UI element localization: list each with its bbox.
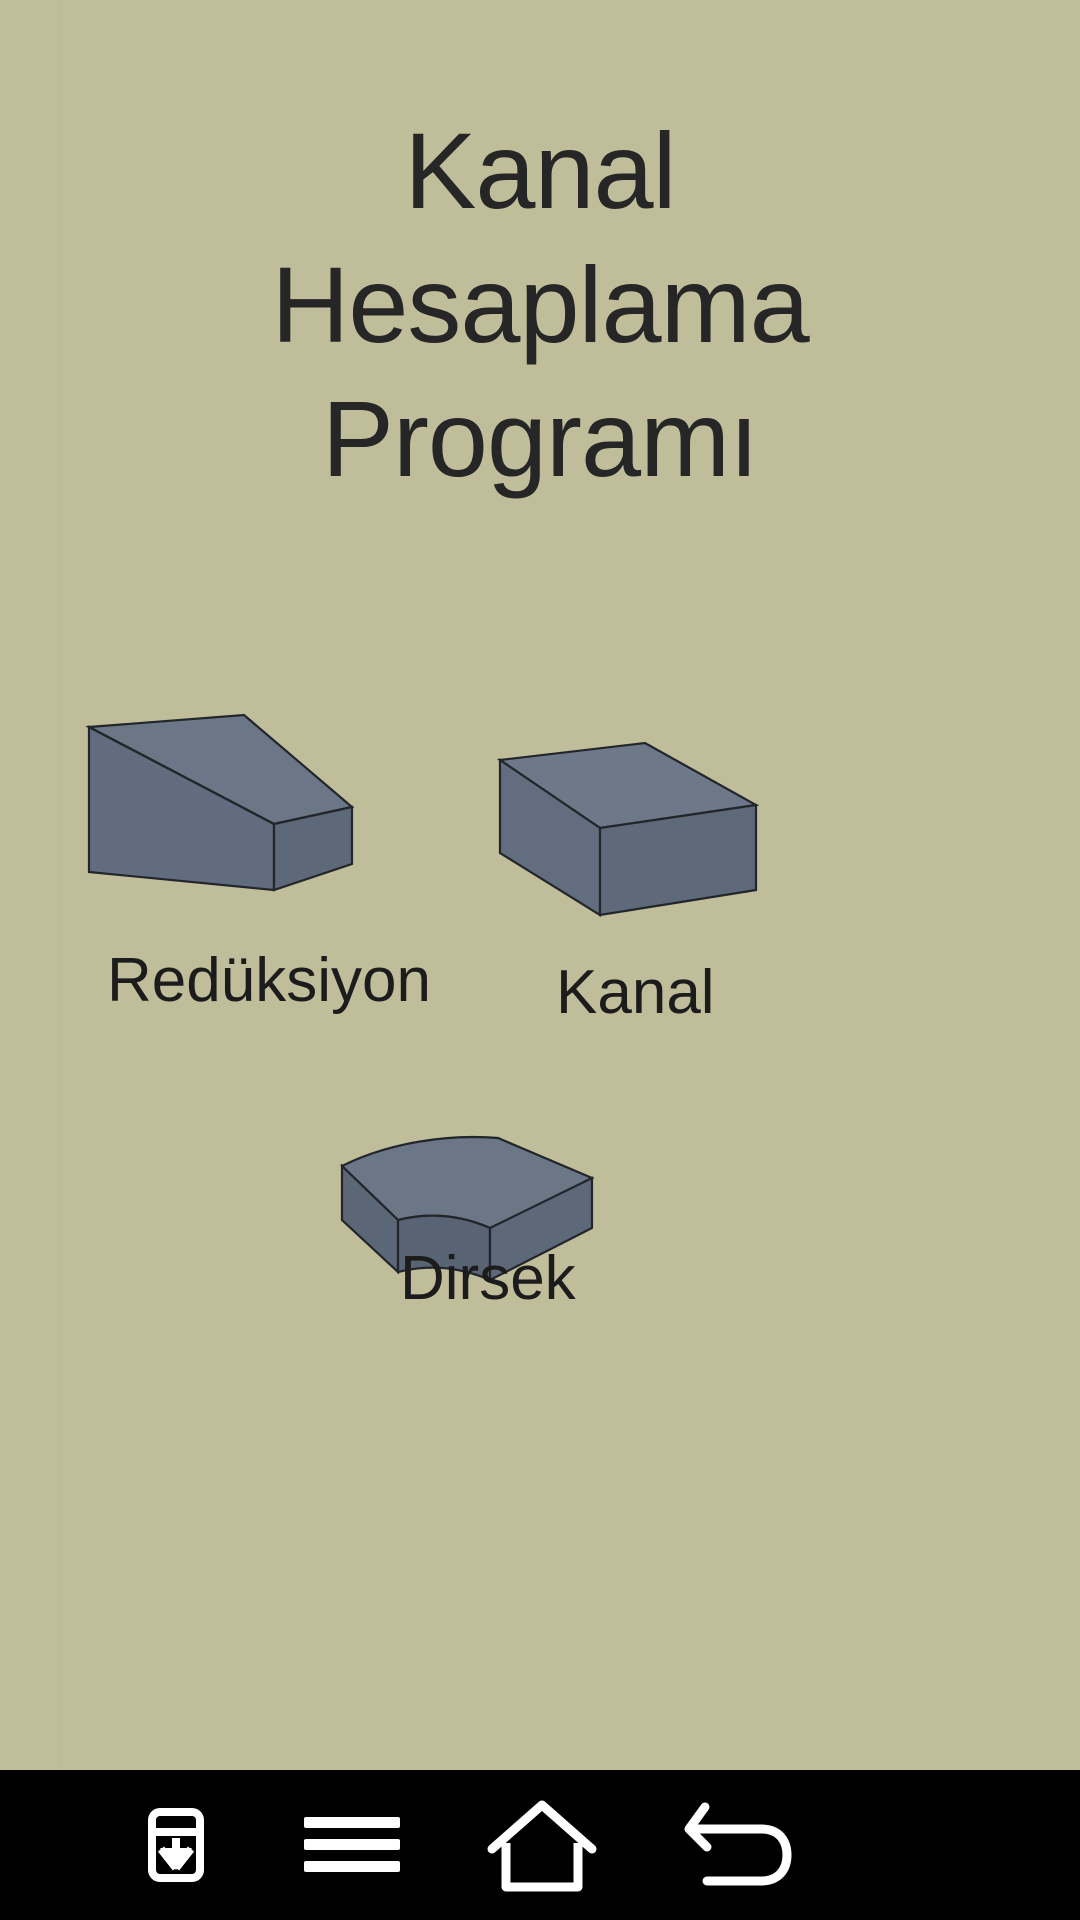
shape-label-dirsek[interactable]: Dirsek <box>400 1248 576 1310</box>
app-screen: Kanal Hesaplama Programı <box>0 0 1080 1920</box>
home-button[interactable] <box>452 1770 632 1920</box>
page-title: Kanal Hesaplama Programı <box>0 104 1080 506</box>
duct-reducer-3d-shape[interactable] <box>84 712 364 892</box>
back-button[interactable] <box>648 1770 828 1920</box>
menu-hamburger-icon <box>304 1815 400 1875</box>
menu-button[interactable] <box>262 1770 442 1920</box>
back-arrow-icon <box>683 1797 793 1893</box>
android-navigation-bar <box>0 1770 1080 1920</box>
duct-straight-3d-shape[interactable] <box>480 740 770 940</box>
hide-keyboard-icon <box>148 1808 204 1882</box>
main-content: Kanal Hesaplama Programı <box>0 0 1080 1770</box>
hide-keyboard-button[interactable] <box>86 1770 266 1920</box>
shape-label-reduksiyon[interactable]: Redüksiyon <box>107 950 431 1012</box>
shape-label-kanal[interactable]: Kanal <box>556 962 715 1024</box>
home-icon <box>486 1797 598 1893</box>
